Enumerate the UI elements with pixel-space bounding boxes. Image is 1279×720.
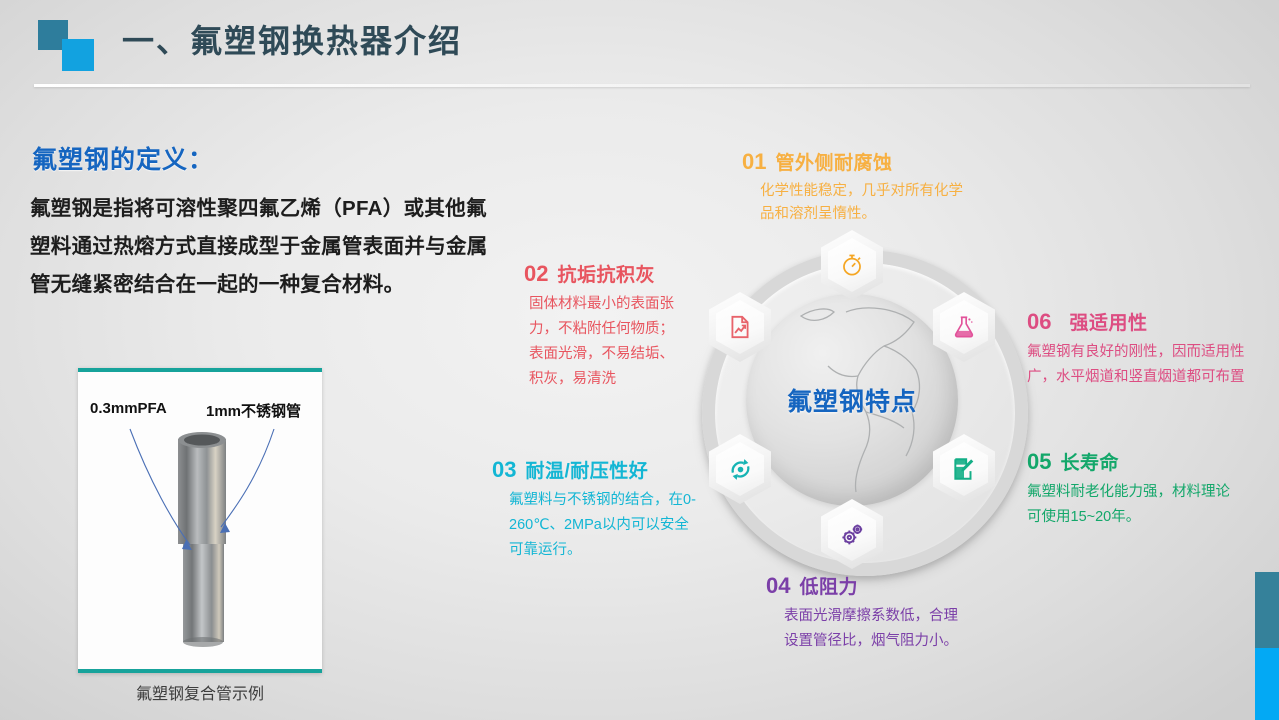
feature-03-title: 耐温/耐压性好	[525, 461, 648, 482]
hexagon-edit-document[interactable]	[933, 434, 995, 504]
feature-01-number: 01	[742, 149, 766, 174]
feature-02: 02抗垢抗积灰 固体材料最小的表面张力，不粘附任何物质；表面光滑，不易结垢、积灰…	[524, 260, 704, 392]
photo-label-pfa: 0.3mmPFA	[90, 400, 167, 417]
feature-01-body: 化学性能稳定，几乎对所有化学品和溶剂呈惰性。	[760, 180, 972, 226]
feature-06-body: 氟塑钢有良好的刚性，因而适用性广，水平烟道和竖直烟道都可布置	[1027, 340, 1249, 390]
feature-03-body: 氟塑料与不锈钢的结合，在0-260℃、2MPa以内可以安全可靠运行。	[509, 488, 701, 563]
header-divider	[34, 84, 1250, 87]
ring-center-title: 氟塑钢特点	[746, 382, 958, 418]
composite-pipe-photo: 0.3mmPFA 1mm不锈钢管	[78, 368, 322, 673]
page-title: 一、氟塑钢换热器介绍	[122, 16, 462, 62]
feature-03-heading: 03耐温/耐压性好	[492, 456, 717, 483]
feature-04-number: 04	[766, 573, 790, 598]
definition-body: 氟塑钢是指将可溶性聚四氟乙烯（PFA）或其他氟塑料通过热熔方式直接成型于金属管表…	[30, 190, 490, 304]
feature-ring-graphic: 氟塑钢特点	[680, 228, 1024, 572]
feature-04-body: 表面光滑摩擦系数低，合理设置管径比，烟气阻力小。	[784, 604, 962, 654]
feature-04-heading: 04低阻力	[766, 572, 981, 599]
stopwatch-icon	[839, 252, 865, 278]
feature-02-number: 02	[524, 261, 548, 286]
edge-accent-bottom	[1255, 648, 1279, 720]
feature-05-heading: 05长寿命	[1027, 448, 1247, 475]
feature-02-title: 抗垢抗积灰	[557, 265, 655, 286]
logo-square-light-icon	[62, 39, 94, 71]
photo-inner: 0.3mmPFA 1mm不锈钢管	[78, 372, 322, 669]
feature-03: 03耐温/耐压性好 氟塑料与不锈钢的结合，在0-260℃、2MPa以内可以安全可…	[492, 456, 717, 563]
feature-06-title: 强适用性	[1069, 313, 1147, 334]
feature-01-title: 管外侧耐腐蚀	[775, 153, 892, 174]
feature-03-number: 03	[492, 457, 516, 482]
hexagon-flask[interactable]	[933, 292, 995, 362]
hexagon-recycle[interactable]	[709, 434, 771, 504]
feature-05-body: 氟塑料耐老化能力强，材料理论可使用15~20年。	[1027, 480, 1232, 530]
feature-02-body: 固体材料最小的表面张力，不粘附任何物质；表面光滑，不易结垢、积灰，易清洗	[529, 292, 677, 392]
feature-04: 04低阻力 表面光滑摩擦系数低，合理设置管径比，烟气阻力小。	[766, 572, 981, 654]
feature-01-heading: 01管外侧耐腐蚀	[742, 148, 992, 175]
feature-04-title: 低阻力	[799, 577, 858, 598]
feature-02-heading: 02抗垢抗积灰	[524, 260, 704, 287]
slide-header: 一、氟塑钢换热器介绍	[0, 0, 1279, 92]
feature-05-number: 05	[1027, 449, 1051, 474]
slide-canvas: 一、氟塑钢换热器介绍 氟塑钢的定义： 氟塑钢是指将可溶性聚四氟乙烯（PFA）或其…	[0, 0, 1279, 720]
flask-icon	[951, 314, 977, 340]
photo-label-steel: 1mm不锈钢管	[206, 400, 301, 421]
feature-06-heading: 06强适用性	[1027, 308, 1257, 335]
recycle-icon	[727, 456, 754, 483]
hexagon-gears[interactable]	[821, 499, 883, 569]
feature-06: 06强适用性 氟塑钢有良好的刚性，因而适用性广，水平烟道和竖直烟道都可布置	[1027, 308, 1257, 390]
photo-bottom-rule	[78, 669, 322, 673]
gears-icon	[839, 521, 866, 548]
photo-caption: 氟塑钢复合管示例	[78, 680, 322, 704]
hexagon-chart-document[interactable]	[709, 292, 771, 362]
edit-document-icon	[951, 456, 977, 482]
definition-title: 氟塑钢的定义：	[32, 140, 214, 176]
chart-document-icon	[727, 314, 753, 340]
feature-05-title: 长寿命	[1060, 453, 1119, 474]
hexagon-stopwatch[interactable]	[821, 230, 883, 300]
feature-01: 01管外侧耐腐蚀 化学性能稳定，几乎对所有化学品和溶剂呈惰性。	[742, 148, 992, 226]
feature-06-number: 06	[1027, 309, 1051, 334]
edge-accent-top	[1255, 572, 1279, 648]
feature-05: 05长寿命 氟塑料耐老化能力强，材料理论可使用15~20年。	[1027, 448, 1247, 530]
